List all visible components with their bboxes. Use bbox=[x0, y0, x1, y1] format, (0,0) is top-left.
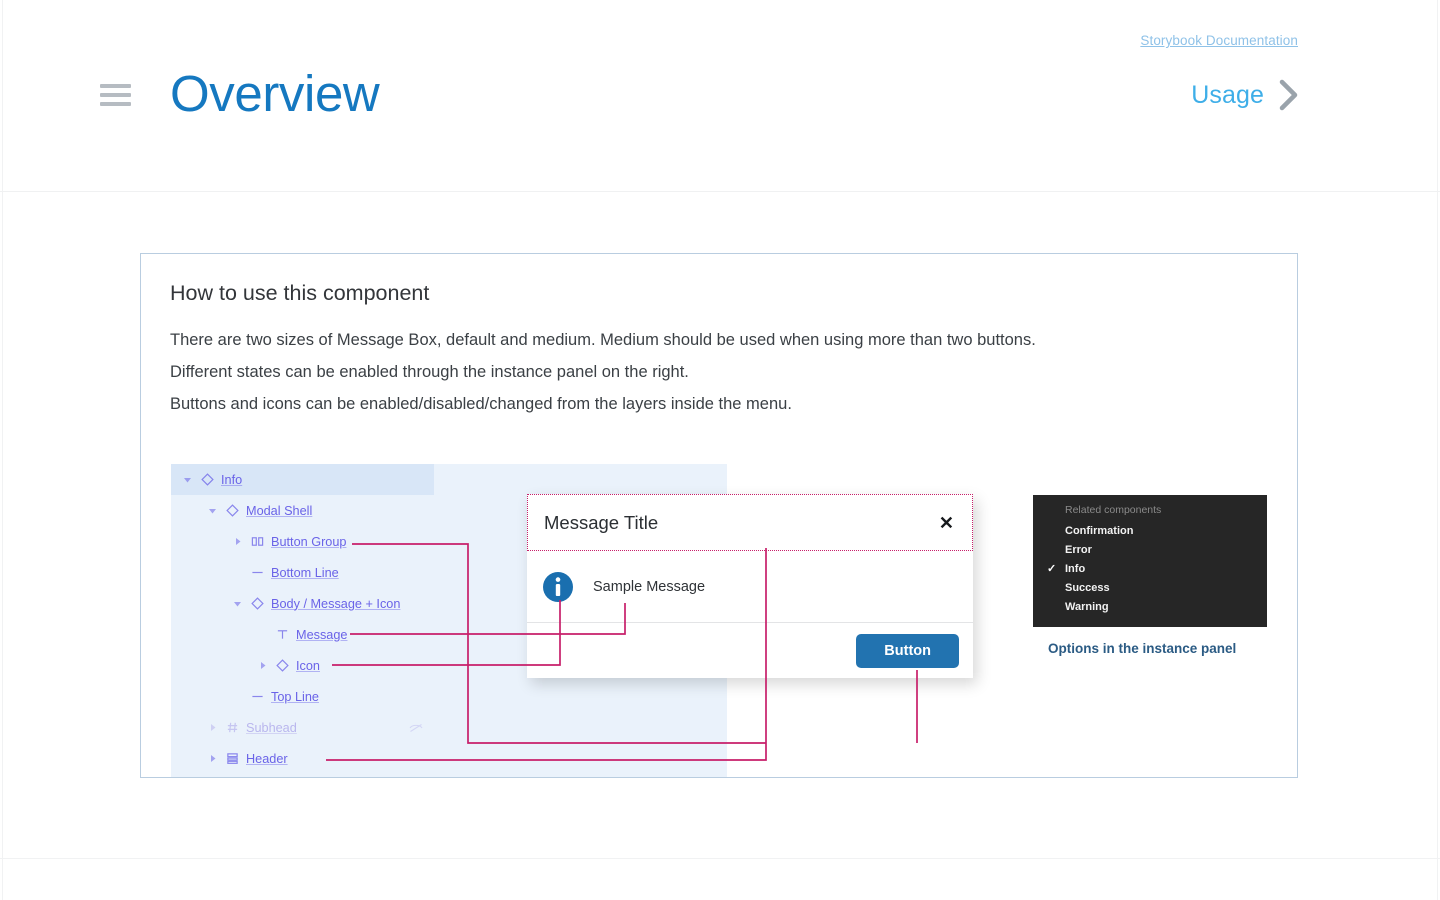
component-diamond-icon bbox=[226, 504, 239, 517]
layer-row-top-line[interactable]: Top Line bbox=[171, 681, 434, 712]
disclosure-right-icon[interactable] bbox=[208, 723, 217, 732]
layer-row-label: Header bbox=[246, 752, 288, 766]
card-paragraph-3: Buttons and icons can be enabled/disable… bbox=[170, 395, 792, 414]
related-component-item-success[interactable]: Success bbox=[1033, 578, 1267, 597]
component-diamond-icon bbox=[276, 659, 289, 672]
columns-icon bbox=[251, 535, 264, 548]
instance-panel-caption: Options in the instance panel bbox=[1048, 641, 1236, 656]
related-component-label: Warning bbox=[1065, 601, 1109, 613]
layer-row-button-group[interactable]: Button Group bbox=[171, 526, 434, 557]
layer-row-label: Message bbox=[296, 628, 347, 642]
disclosure-right-icon[interactable] bbox=[233, 537, 242, 546]
dialog-title: Message Title bbox=[544, 512, 658, 534]
disclosure-down-icon[interactable] bbox=[233, 599, 242, 608]
next-page-label: Usage bbox=[1191, 81, 1264, 110]
dialog-header: Message Title ✕ bbox=[527, 494, 973, 551]
hamburger-bar bbox=[100, 102, 131, 106]
checkmark-icon: ✓ bbox=[1047, 562, 1056, 575]
related-component-label: Error bbox=[1065, 544, 1092, 556]
dialog-primary-button[interactable]: Button bbox=[856, 634, 959, 668]
line-dash-icon bbox=[251, 566, 264, 579]
caret-spacer bbox=[258, 630, 267, 639]
related-component-item-error[interactable]: Error bbox=[1033, 540, 1267, 559]
line-dash-icon bbox=[251, 690, 264, 703]
layer-row-message[interactable]: Message bbox=[171, 619, 434, 650]
next-page-nav[interactable]: Usage bbox=[1191, 78, 1300, 112]
layer-row-label: Subhead bbox=[246, 721, 297, 735]
rows-stack-icon bbox=[226, 752, 239, 765]
hamburger-bar bbox=[100, 93, 131, 97]
layer-row-label: Button Group bbox=[271, 535, 346, 549]
layer-row-info[interactable]: Info bbox=[171, 464, 434, 495]
related-component-label: Success bbox=[1065, 582, 1110, 594]
layer-row-label: Bottom Line bbox=[271, 566, 339, 580]
storybook-documentation-link[interactable]: Storybook Documentation bbox=[1140, 33, 1298, 48]
footer-divider bbox=[0, 858, 1440, 859]
related-component-item-confirmation[interactable]: Confirmation bbox=[1033, 521, 1267, 540]
text-type-icon bbox=[276, 628, 289, 641]
hamburger-bar bbox=[100, 84, 131, 88]
layer-row-body-message-icon[interactable]: Body / Message + Icon bbox=[171, 588, 434, 619]
card-heading: How to use this component bbox=[170, 281, 429, 306]
related-component-label: Confirmation bbox=[1065, 525, 1133, 537]
message-box-dialog: Message Title ✕ Sample Message Button bbox=[527, 494, 973, 678]
layer-row-header[interactable]: Header bbox=[171, 743, 434, 774]
related-components-menu: Related components ConfirmationError✓Inf… bbox=[1033, 495, 1267, 627]
dialog-footer: Button bbox=[527, 623, 973, 678]
related-component-item-info[interactable]: ✓Info bbox=[1033, 559, 1267, 578]
layer-row-bottom-line[interactable]: Bottom Line bbox=[171, 557, 434, 588]
hamburger-menu-icon[interactable] bbox=[100, 84, 131, 106]
layer-row-label: Modal Shell bbox=[246, 504, 312, 518]
layer-row-label: Top Line bbox=[271, 690, 319, 704]
disclosure-right-icon[interactable] bbox=[208, 754, 217, 763]
disclosure-right-icon[interactable] bbox=[258, 661, 267, 670]
chevron-right-icon bbox=[1278, 78, 1300, 112]
card-paragraph-1: There are two sizes of Message Box, defa… bbox=[170, 331, 1036, 350]
eye-slash-icon[interactable] bbox=[409, 723, 423, 733]
layer-row-label: Body / Message + Icon bbox=[271, 597, 400, 611]
related-component-label: Info bbox=[1065, 563, 1085, 575]
layer-row-label: Info bbox=[221, 473, 242, 487]
layer-row-modal-shell[interactable]: Modal Shell bbox=[171, 495, 434, 526]
component-diamond-icon bbox=[251, 597, 264, 610]
dialog-body: Sample Message bbox=[527, 551, 973, 623]
caret-spacer bbox=[233, 568, 242, 577]
related-component-item-warning[interactable]: Warning bbox=[1033, 597, 1267, 616]
grid-hash-icon bbox=[226, 721, 239, 734]
layer-row-subhead[interactable]: Subhead bbox=[171, 712, 434, 743]
page-title: Overview bbox=[170, 68, 379, 119]
disclosure-down-icon[interactable] bbox=[183, 475, 192, 484]
caret-spacer bbox=[233, 692, 242, 701]
info-circle-icon bbox=[543, 572, 573, 602]
related-components-header: Related components bbox=[1033, 504, 1267, 521]
related-components-list: ConfirmationError✓InfoSuccessWarning bbox=[1033, 521, 1267, 616]
layer-row-label: Icon bbox=[296, 659, 320, 673]
disclosure-down-icon[interactable] bbox=[208, 506, 217, 515]
card-paragraph-2: Different states can be enabled through … bbox=[170, 363, 689, 382]
dialog-message: Sample Message bbox=[593, 579, 705, 595]
page-header: Storybook Documentation Overview Usage bbox=[0, 0, 1440, 192]
close-x-icon[interactable]: ✕ bbox=[939, 514, 954, 532]
component-diamond-icon bbox=[201, 473, 214, 486]
layer-row-icon[interactable]: Icon bbox=[171, 650, 434, 681]
page-root: Storybook Documentation Overview Usage H… bbox=[0, 0, 1440, 900]
